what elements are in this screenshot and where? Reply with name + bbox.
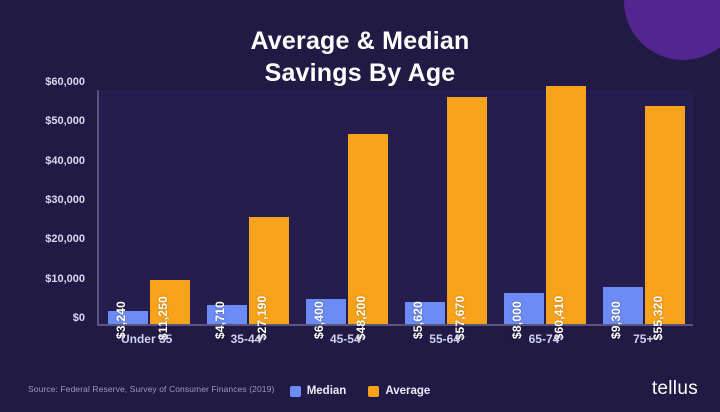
- bar-group: $8,000$60,410: [502, 90, 588, 324]
- y-axis-tick: $50,000: [45, 115, 85, 127]
- bar-group: $6,400$48,200: [304, 90, 390, 324]
- bar-groups: $3,240$11,250$4,710$27,190$6,400$48,200$…: [99, 90, 693, 324]
- legend-item-median[interactable]: Median: [290, 385, 347, 397]
- legend-swatch-icon: [368, 386, 379, 397]
- brand-logo: tellus: [652, 378, 698, 400]
- bar-average[interactable]: $57,670: [447, 97, 487, 324]
- bar-median[interactable]: $3,240: [108, 311, 148, 324]
- legend-swatch-icon: [290, 386, 301, 397]
- x-axis-category: 35-44: [203, 332, 289, 352]
- bar-average[interactable]: $60,410: [546, 86, 586, 324]
- plot-area: $3,240$11,250$4,710$27,190$6,400$48,200$…: [97, 90, 693, 326]
- x-axis-category: 75+: [600, 332, 686, 352]
- legend-label: Average: [385, 385, 430, 397]
- page-title: Average & Median Savings By Age: [0, 25, 720, 89]
- x-axis: Under 3535-4445-5455-6465-7475+: [97, 332, 693, 352]
- y-axis: $60,000$50,000$40,000$30,000$20,000$10,0…: [0, 82, 92, 326]
- legend-item-average[interactable]: Average: [368, 385, 430, 397]
- bar-median[interactable]: $8,000: [504, 293, 544, 324]
- legend-label: Median: [307, 385, 347, 397]
- bar-median[interactable]: $4,710: [207, 305, 247, 324]
- bar-median[interactable]: $5,620: [405, 302, 445, 324]
- y-axis-tick: $30,000: [45, 194, 85, 206]
- chart-page: Average & Median Savings By Age $60,000$…: [0, 0, 720, 412]
- bar-average[interactable]: $11,250: [150, 280, 190, 324]
- x-axis-category: Under 35: [104, 332, 190, 352]
- y-axis-tick: $60,000: [45, 76, 85, 88]
- chart-legend: MedianAverage: [0, 385, 720, 397]
- y-axis-tick: $20,000: [45, 233, 85, 245]
- bar-group: $9,300$55,320: [601, 90, 687, 324]
- bar-average[interactable]: $48,200: [348, 134, 388, 324]
- y-axis-tick: $40,000: [45, 155, 85, 167]
- bar-average[interactable]: $27,190: [249, 217, 289, 324]
- x-axis-category: 45-54: [302, 332, 388, 352]
- bar-average[interactable]: $55,320: [645, 106, 685, 324]
- bar-group: $5,620$57,670: [403, 90, 489, 324]
- bar-group: $3,240$11,250: [106, 90, 192, 324]
- bar-group: $4,710$27,190: [205, 90, 291, 324]
- bar-median[interactable]: $9,300: [603, 287, 643, 324]
- x-axis-category: 65-74: [501, 332, 587, 352]
- y-axis-tick: $0: [73, 312, 85, 324]
- bar-median[interactable]: $6,400: [306, 299, 346, 324]
- y-axis-tick: $10,000: [45, 273, 85, 285]
- x-axis-category: 55-64: [402, 332, 488, 352]
